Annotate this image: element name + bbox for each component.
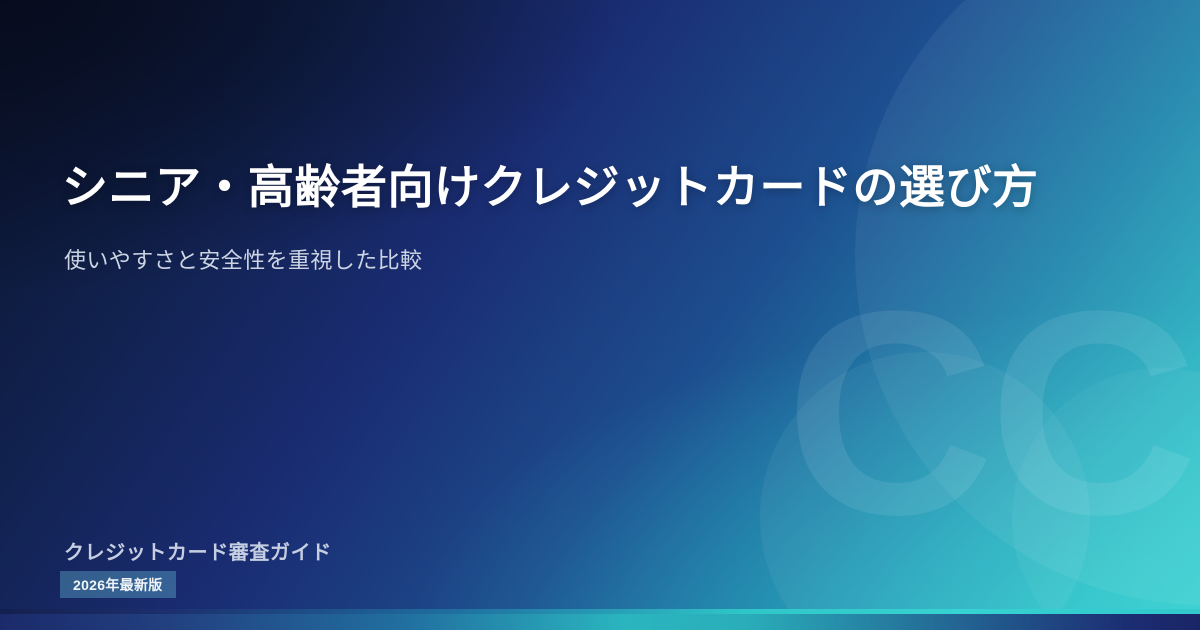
brand-name: クレジットカード審査ガイド: [64, 536, 332, 565]
page-subtitle: 使いやすさと安全性を重視した比較: [64, 243, 422, 275]
content-area: シニア・高齢者向けクレジットカードの選び方 使いやすさと安全性を重視した比較 ク…: [62, 0, 1062, 630]
accent-bar-navy: [0, 614, 1200, 630]
edition-badge: 2026年最新版: [60, 571, 176, 598]
og-image-card: CC シニア・高齢者向けクレジットカードの選び方 使いやすさと安全性を重視した比…: [0, 0, 1200, 630]
page-title: シニア・高齢者向けクレジットカードの選び方: [62, 160, 1039, 214]
